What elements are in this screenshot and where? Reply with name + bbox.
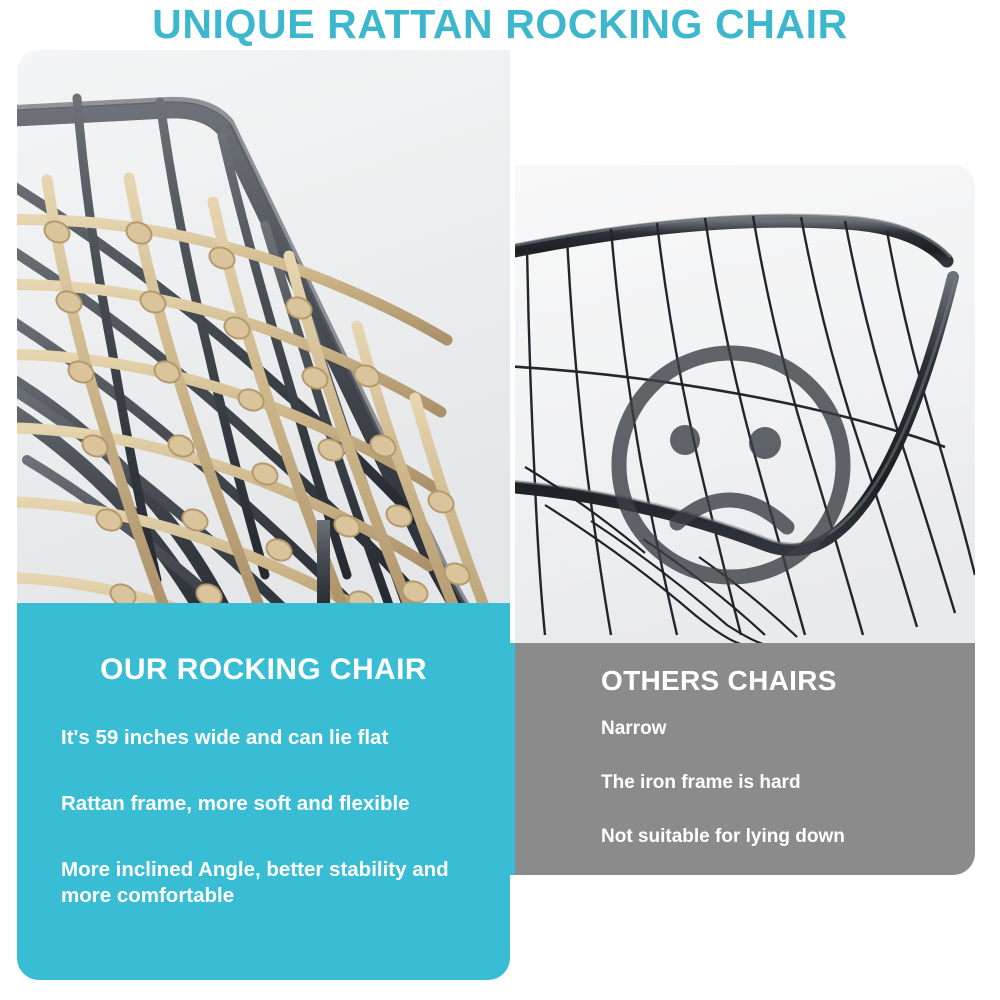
our-chair-benefit-list: It's 59 inches wide and can lie flat Rat…	[17, 725, 510, 909]
rattan-chair-illustration	[17, 50, 510, 605]
other-chair-photo	[515, 165, 975, 645]
list-item: Not suitable for lying down	[601, 825, 965, 849]
other-chairs-panel: OTHERS CHAIRS Narrow The iron frame is h…	[515, 643, 975, 875]
list-item: More inclined Angle, better stability an…	[61, 857, 480, 909]
our-chair-panel: OUR ROCKING CHAIR It's 59 inches wide an…	[17, 603, 510, 980]
list-item: Narrow	[601, 717, 965, 741]
page-title: UNIQUE RATTAN ROCKING CHAIR	[0, 2, 1000, 46]
other-chairs-heading: OTHERS CHAIRS	[515, 665, 975, 697]
list-item: It's 59 inches wide and can lie flat	[61, 725, 480, 751]
right-comparison-column: OTHERS CHAIRS Narrow The iron frame is h…	[515, 165, 975, 875]
our-chair-heading: OUR ROCKING CHAIR	[17, 653, 510, 687]
rattan-chair-photo	[17, 50, 510, 605]
list-item: The iron frame is hard	[601, 771, 965, 795]
other-chairs-drawback-list: Narrow The iron frame is hard Not suitab…	[515, 717, 975, 849]
left-comparison-column: OUR ROCKING CHAIR It's 59 inches wide an…	[17, 50, 510, 980]
list-item: Rattan frame, more soft and flexible	[61, 791, 480, 817]
product-comparison-infographic: UNIQUE RATTAN ROCKING CHAIR	[0, 0, 1000, 1000]
wire-chair-illustration	[515, 165, 975, 645]
